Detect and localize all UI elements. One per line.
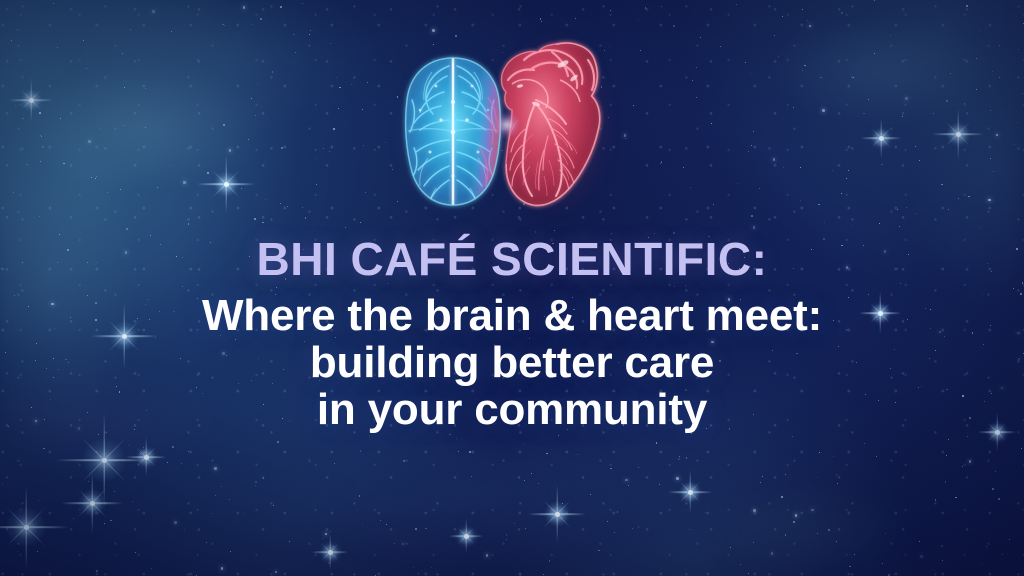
brain-illustration <box>406 58 501 205</box>
star <box>817 533 818 534</box>
star <box>214 467 217 470</box>
star <box>96 176 97 177</box>
star-flare <box>9 78 53 122</box>
star <box>506 534 508 536</box>
star <box>609 46 610 47</box>
star <box>837 483 838 484</box>
star <box>998 498 1000 500</box>
star <box>410 125 413 128</box>
star-flare <box>528 485 586 543</box>
star <box>558 435 559 436</box>
star <box>661 161 662 162</box>
star <box>628 485 629 486</box>
star <box>315 552 316 553</box>
star <box>696 97 697 98</box>
star <box>243 6 246 9</box>
star <box>126 228 128 230</box>
star <box>467 188 468 189</box>
star <box>514 523 515 524</box>
star <box>130 29 131 30</box>
star <box>88 140 91 143</box>
star <box>143 447 145 449</box>
star <box>385 142 386 143</box>
star <box>990 110 992 112</box>
star <box>444 160 447 163</box>
star <box>832 170 833 171</box>
star <box>955 497 957 499</box>
star <box>874 53 875 54</box>
star <box>1017 122 1018 123</box>
poster-canvas: BHI CAFÉ SCIENTIFIC: Where the brain & h… <box>0 0 1024 576</box>
star <box>177 468 178 469</box>
star <box>546 453 548 455</box>
star <box>262 222 264 224</box>
star <box>575 18 576 19</box>
star <box>820 77 822 79</box>
star <box>802 9 803 10</box>
star <box>678 458 680 460</box>
star <box>841 12 843 14</box>
star <box>785 474 786 475</box>
star <box>673 25 675 27</box>
star <box>110 520 112 522</box>
star <box>132 501 133 502</box>
star <box>305 217 307 219</box>
star <box>451 135 452 136</box>
star <box>39 112 41 114</box>
star <box>774 35 775 36</box>
star <box>224 25 225 26</box>
star <box>425 528 427 530</box>
star <box>323 148 324 149</box>
star <box>114 491 115 492</box>
star <box>906 207 907 208</box>
star <box>363 145 364 146</box>
star <box>394 543 395 544</box>
star <box>120 189 121 190</box>
star <box>339 87 341 89</box>
star <box>795 514 798 517</box>
star <box>333 128 335 130</box>
star <box>229 149 232 152</box>
star <box>759 188 760 189</box>
star <box>948 439 949 440</box>
star <box>604 50 605 51</box>
star <box>458 451 459 452</box>
star <box>525 528 526 529</box>
star <box>1002 554 1003 555</box>
star <box>740 564 741 565</box>
star <box>255 485 256 486</box>
star <box>546 75 547 76</box>
star <box>730 547 731 548</box>
star <box>868 99 869 100</box>
star <box>692 80 693 81</box>
star <box>785 534 787 536</box>
star <box>57 47 58 48</box>
star <box>386 524 387 525</box>
star <box>711 123 712 124</box>
star <box>915 213 916 214</box>
star <box>362 524 363 525</box>
page-title: BHI CAFÉ SCIENTIFIC: <box>0 234 1024 284</box>
star <box>713 204 714 205</box>
star <box>990 439 991 440</box>
star <box>905 97 908 100</box>
star <box>369 435 370 436</box>
star <box>524 444 525 445</box>
star <box>122 53 123 54</box>
star <box>280 203 281 204</box>
star <box>773 158 776 161</box>
star <box>753 131 754 132</box>
star <box>624 134 627 137</box>
star <box>263 478 264 479</box>
star <box>576 119 577 120</box>
star <box>876 456 877 457</box>
star <box>964 103 965 104</box>
star <box>392 169 393 170</box>
star <box>946 455 947 456</box>
star <box>487 181 489 183</box>
star <box>541 21 542 22</box>
star <box>330 43 331 44</box>
star <box>1014 144 1015 145</box>
star <box>221 486 222 487</box>
star <box>890 35 891 36</box>
star <box>836 474 838 476</box>
star <box>367 82 368 83</box>
star <box>100 128 101 129</box>
star <box>260 18 262 20</box>
star <box>2 484 3 485</box>
star <box>506 539 507 540</box>
star-flare <box>668 470 712 514</box>
star <box>87 506 88 507</box>
star <box>976 89 977 90</box>
star <box>804 65 806 67</box>
star <box>40 161 41 162</box>
star <box>897 209 898 210</box>
star <box>874 0 875 1</box>
star <box>17 29 18 30</box>
star <box>524 480 525 481</box>
star <box>538 483 539 484</box>
star <box>454 143 455 144</box>
star <box>145 88 146 89</box>
star <box>610 10 611 11</box>
star <box>351 84 352 85</box>
star <box>486 554 489 557</box>
star <box>753 226 756 229</box>
star <box>969 460 972 463</box>
star <box>53 3 54 4</box>
star <box>295 52 296 53</box>
star <box>854 554 855 555</box>
star <box>230 551 231 552</box>
star <box>455 35 457 37</box>
star <box>999 77 1000 78</box>
star <box>676 477 679 480</box>
star <box>174 521 177 524</box>
star <box>336 77 337 78</box>
star <box>360 222 361 223</box>
star <box>170 165 171 166</box>
star <box>157 187 158 188</box>
subtitle-line-2: building better care <box>0 339 1024 386</box>
star <box>610 468 612 470</box>
star <box>244 513 245 514</box>
star <box>277 441 279 443</box>
star <box>471 476 472 477</box>
star <box>333 546 334 547</box>
star <box>501 150 503 152</box>
star <box>990 158 991 159</box>
star <box>800 167 801 168</box>
subtitle-line-3: in your community <box>0 386 1024 433</box>
star <box>919 541 920 542</box>
star <box>188 451 189 452</box>
star <box>431 567 433 569</box>
star <box>902 116 904 118</box>
star <box>645 7 647 9</box>
star <box>91 177 92 178</box>
star <box>326 552 327 553</box>
star <box>882 563 883 564</box>
star <box>554 230 555 231</box>
star <box>958 198 959 199</box>
star <box>783 167 785 169</box>
star <box>316 158 317 159</box>
star <box>601 86 603 88</box>
star <box>11 40 12 41</box>
star <box>999 45 1000 46</box>
star <box>473 86 474 87</box>
star <box>468 198 469 199</box>
star <box>607 521 608 522</box>
star <box>171 31 172 32</box>
heart-glow <box>498 36 610 214</box>
star <box>828 529 830 531</box>
star <box>456 108 457 109</box>
star <box>329 151 330 152</box>
star <box>452 76 453 77</box>
star <box>289 541 290 542</box>
subtitle-line-1: Where the brain & heart meet: <box>0 292 1024 339</box>
star <box>328 562 330 564</box>
star <box>287 206 288 207</box>
star <box>992 488 994 490</box>
star <box>167 462 168 463</box>
star <box>793 521 795 523</box>
star <box>469 451 471 453</box>
star <box>800 200 801 201</box>
brain-glow <box>400 52 508 214</box>
star <box>104 523 105 524</box>
star <box>853 77 854 78</box>
star <box>748 151 749 152</box>
star <box>431 106 434 109</box>
star <box>818 204 820 206</box>
star <box>846 178 847 179</box>
star <box>456 438 457 439</box>
star <box>241 188 242 189</box>
star <box>265 199 266 200</box>
star <box>841 193 842 194</box>
star-flare <box>0 484 69 570</box>
star <box>538 55 540 57</box>
star <box>696 67 697 68</box>
star <box>915 146 916 147</box>
star <box>172 446 174 448</box>
star <box>432 129 434 131</box>
star <box>452 169 454 171</box>
star <box>418 573 419 574</box>
star <box>690 187 691 188</box>
star <box>920 555 923 558</box>
star <box>660 163 661 164</box>
star <box>822 109 825 112</box>
star <box>899 226 900 227</box>
star <box>996 134 999 137</box>
star <box>257 84 258 85</box>
star <box>41 136 42 137</box>
star <box>465 131 466 132</box>
star <box>188 223 190 225</box>
star <box>338 108 339 109</box>
star <box>988 199 991 202</box>
star <box>272 71 274 73</box>
star <box>183 181 186 184</box>
star <box>181 463 182 464</box>
star <box>251 98 252 99</box>
star <box>403 460 405 462</box>
star <box>531 473 532 474</box>
star <box>293 34 295 36</box>
star <box>656 442 658 444</box>
star <box>207 172 209 174</box>
star <box>140 453 141 454</box>
star-flare <box>932 108 984 160</box>
star <box>864 443 865 444</box>
star <box>43 448 45 450</box>
star <box>83 40 84 41</box>
star <box>950 73 951 74</box>
star <box>737 183 738 184</box>
star <box>40 135 41 136</box>
star <box>966 5 968 7</box>
star <box>60 118 62 120</box>
star <box>489 116 490 117</box>
star <box>423 158 424 159</box>
star <box>760 482 761 483</box>
star <box>792 436 793 437</box>
star <box>817 477 818 478</box>
star <box>95 178 96 179</box>
star <box>309 34 310 35</box>
star <box>948 209 949 210</box>
star <box>881 164 883 166</box>
star <box>632 528 633 529</box>
star <box>633 105 634 106</box>
star <box>415 528 417 530</box>
star <box>625 138 626 139</box>
star <box>705 512 706 513</box>
star <box>397 201 398 202</box>
star <box>362 109 363 110</box>
star <box>745 62 746 63</box>
star <box>433 44 434 45</box>
star <box>700 37 701 38</box>
star <box>933 113 934 114</box>
star <box>38 500 39 501</box>
star <box>502 52 503 53</box>
star <box>753 542 755 544</box>
star <box>563 54 564 55</box>
star <box>98 434 99 435</box>
star <box>562 503 563 504</box>
star <box>365 192 366 193</box>
star <box>221 567 224 570</box>
star <box>124 125 125 126</box>
star <box>432 29 435 32</box>
star <box>359 495 361 497</box>
star <box>255 115 256 116</box>
star <box>397 96 399 98</box>
star <box>280 6 282 8</box>
star <box>753 509 756 512</box>
star <box>448 138 449 139</box>
star <box>222 24 224 26</box>
star <box>638 526 640 528</box>
star <box>824 222 825 223</box>
star <box>863 113 865 115</box>
star <box>686 457 688 459</box>
star <box>89 476 90 477</box>
star <box>638 467 639 468</box>
star <box>360 450 362 452</box>
star <box>115 555 116 556</box>
star <box>982 564 983 565</box>
star <box>750 73 751 74</box>
star <box>617 511 619 513</box>
star <box>778 56 779 57</box>
star <box>995 471 996 472</box>
star <box>107 192 108 193</box>
star-flare <box>449 519 483 553</box>
star <box>15 105 16 106</box>
star <box>184 529 186 531</box>
star <box>793 107 794 108</box>
star <box>771 552 774 555</box>
star <box>523 76 524 77</box>
star <box>212 513 213 514</box>
star <box>1022 93 1023 94</box>
star <box>614 532 615 533</box>
star <box>625 479 628 482</box>
star <box>330 531 331 532</box>
star <box>334 463 335 464</box>
star <box>807 20 808 21</box>
star <box>96 570 98 572</box>
star <box>543 574 544 575</box>
star <box>640 50 641 51</box>
title-group: BHI CAFÉ SCIENTIFIC: Where the brain & h… <box>0 234 1024 433</box>
star <box>885 533 886 534</box>
star <box>720 46 721 47</box>
star <box>37 551 38 552</box>
star <box>42 146 44 148</box>
